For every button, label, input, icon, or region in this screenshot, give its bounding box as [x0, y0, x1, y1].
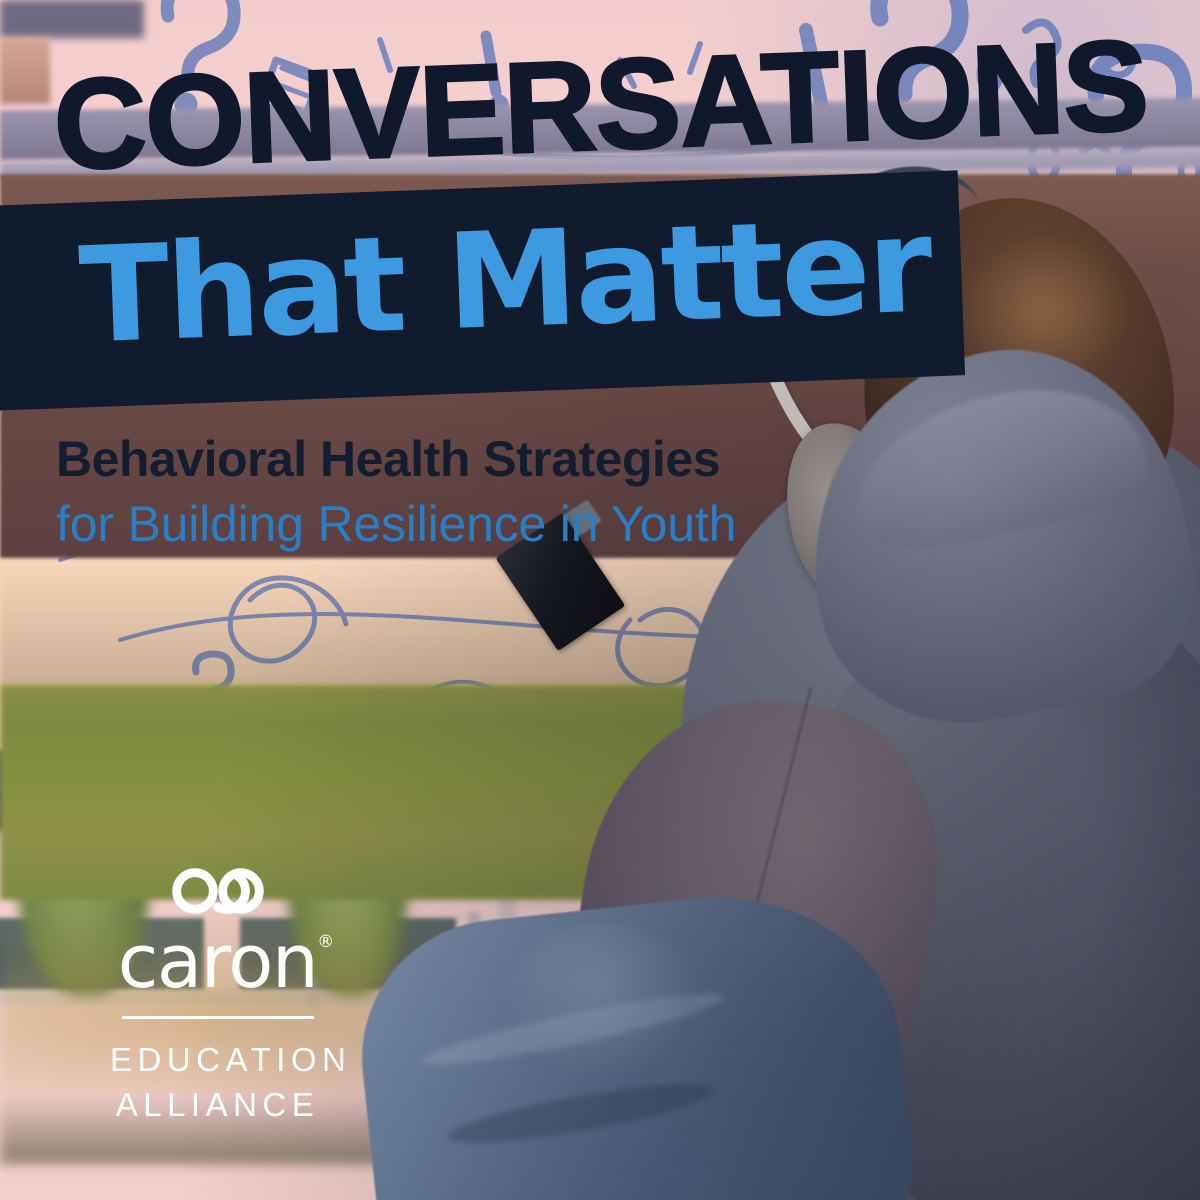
subtitle-line-1: Behavioral Health Strategies: [56, 432, 720, 486]
logo-wordmark: caron®: [118, 929, 318, 996]
registered-trademark-icon: ®: [317, 935, 334, 950]
subtitle-line-2: for Building Resilience in Youth: [56, 497, 736, 551]
page-title-accent: That Matter: [77, 199, 932, 362]
page-title: CONVERSATIONS: [52, 28, 1150, 183]
caron-education-alliance-logo: caron® EDUCATION ALLIANCE: [110, 855, 325, 1128]
logo-subtitle-line-2: ALLIANCE: [110, 1082, 325, 1128]
title-banner: That Matter: [0, 170, 965, 411]
logo-divider: [122, 1016, 314, 1019]
logo-wordmark-text: caron: [118, 919, 318, 1005]
interlocking-rings-icon: [159, 855, 277, 927]
logo-subtitle-line-1: EDUCATION: [110, 1037, 325, 1083]
podcast-cover-art: CONVERSATIONS That Matter Behavioral Hea…: [0, 0, 1200, 1200]
